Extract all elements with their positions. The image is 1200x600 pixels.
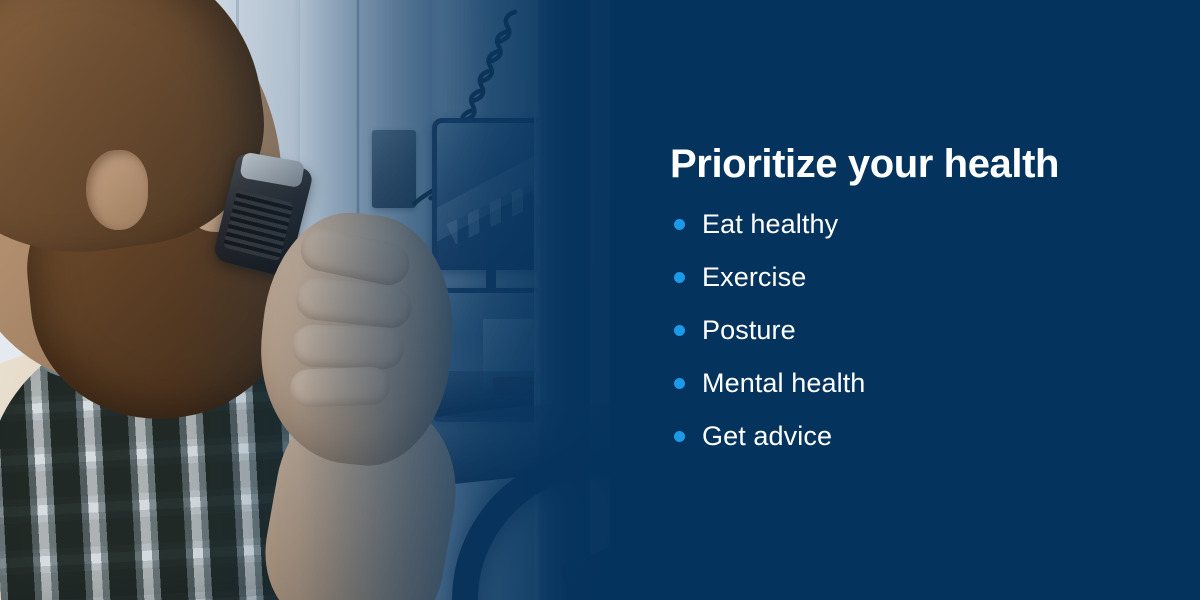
list-item-label: Get advice bbox=[702, 423, 832, 450]
truck-upper-side-mirror bbox=[432, 118, 550, 270]
list-item: Get advice bbox=[668, 410, 865, 463]
bullet-dot-icon bbox=[674, 325, 685, 336]
list-item-label: Mental health bbox=[702, 370, 865, 397]
bullet-dot-icon bbox=[674, 272, 685, 283]
bullet-dot-icon bbox=[674, 378, 685, 389]
list-item-label: Exercise bbox=[702, 264, 806, 291]
list-item: Exercise bbox=[668, 251, 865, 304]
page-title: Prioritize your health bbox=[670, 143, 1059, 186]
driver-finger bbox=[291, 324, 404, 370]
bullet-dot-icon bbox=[674, 219, 685, 230]
driver-photo bbox=[0, 0, 660, 600]
list-item: Posture bbox=[668, 304, 865, 357]
bullet-dot-icon bbox=[674, 431, 685, 442]
health-banner: Prioritize your health Eat healthy Exerc… bbox=[0, 0, 1200, 600]
list-item: Eat healthy bbox=[668, 198, 865, 251]
microphone-grille bbox=[223, 189, 294, 261]
driver-ear bbox=[86, 150, 148, 230]
driver-finger bbox=[289, 366, 390, 407]
content-column: Prioritize your health Eat healthy Exerc… bbox=[668, 0, 1188, 600]
list-item: Mental health bbox=[668, 357, 865, 410]
list-item-label: Eat healthy bbox=[702, 211, 838, 238]
list-item-label: Posture bbox=[702, 317, 796, 344]
health-tips-list: Eat healthy Exercise Posture Mental heal… bbox=[668, 198, 865, 463]
